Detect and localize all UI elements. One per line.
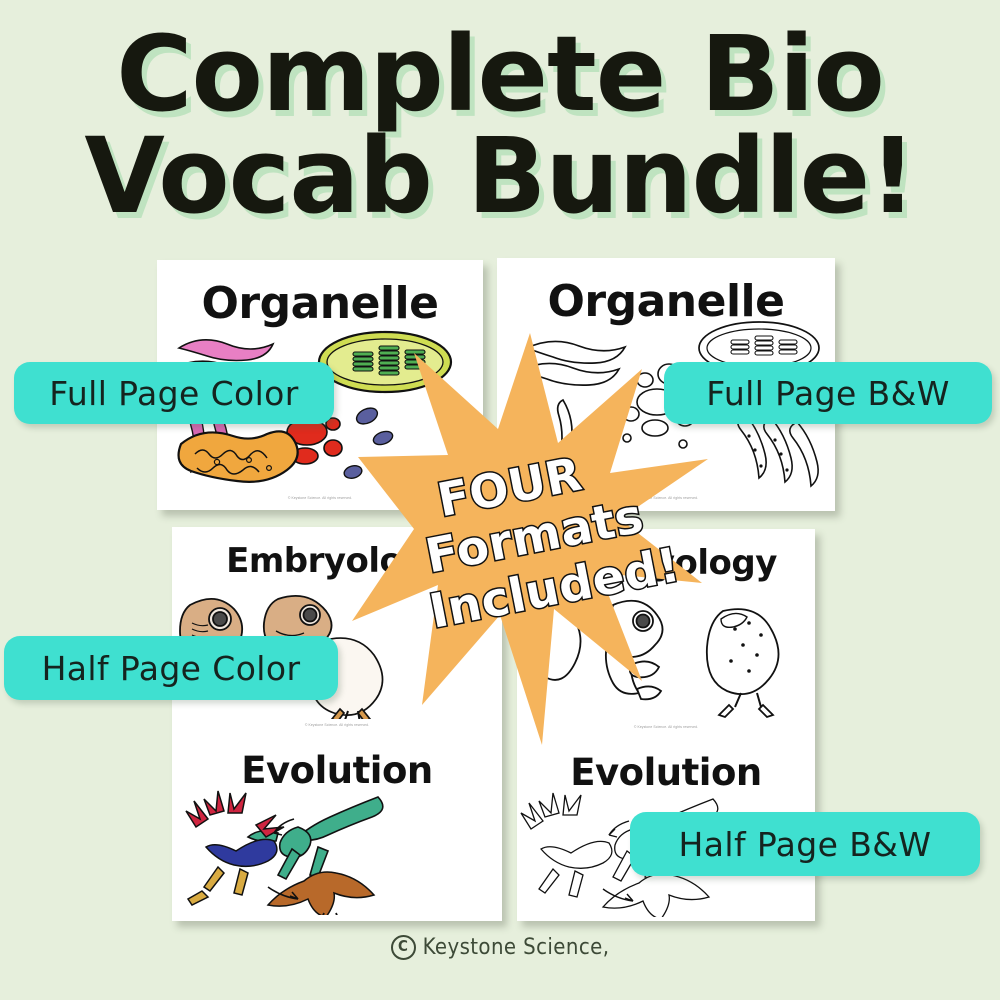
card-title-evolution: Evolution <box>172 749 502 792</box>
copyright-icon: C <box>391 935 416 960</box>
badge-label: Half Page B&W <box>679 828 932 861</box>
footer-credit: C Keystone Science, <box>0 935 1000 960</box>
badge-full-page-color[interactable]: Full Page Color <box>14 362 334 424</box>
badge-half-page-color[interactable]: Half Page Color <box>4 636 338 700</box>
poster-canvas: Complete Bio Vocab Bundle! Organelle <box>0 0 1000 1000</box>
card-title-evolution: Evolution <box>517 751 815 794</box>
badge-label: Half Page Color <box>42 652 301 685</box>
badge-label: Full Page Color <box>49 377 298 410</box>
starburst-polygon <box>352 333 708 745</box>
page-title-line-2: Vocab Bundle! <box>0 126 1000 228</box>
badge-label: Full Page B&W <box>706 377 950 410</box>
footer-text: Keystone Science, <box>423 935 610 960</box>
dinosaur-evolution-color-art <box>172 789 502 915</box>
badge-full-page-bw[interactable]: Full Page B&W <box>664 362 992 424</box>
starburst-shape <box>352 333 708 745</box>
four-formats-starburst: FOUR Formats Included! <box>352 333 708 745</box>
badge-half-page-bw[interactable]: Half Page B&W <box>630 812 980 876</box>
page-title: Complete Bio Vocab Bundle! <box>0 24 1000 228</box>
